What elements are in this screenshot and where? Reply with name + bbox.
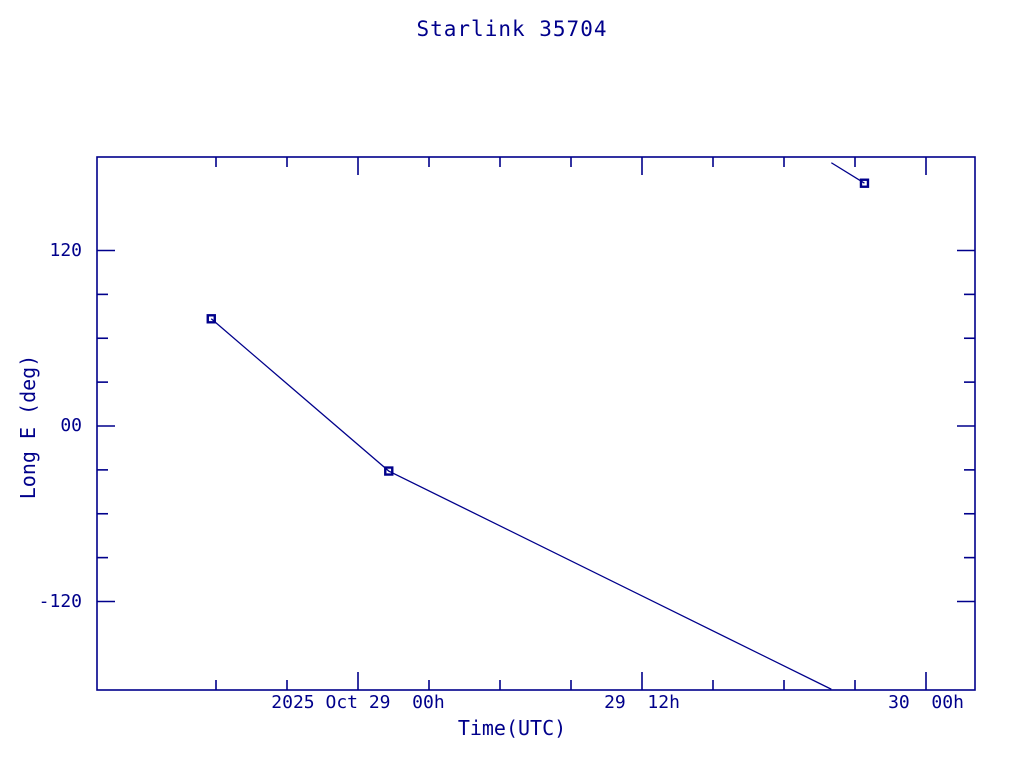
x-tick-label: 30 00h	[766, 692, 1024, 713]
data-series-lines	[211, 163, 864, 690]
x-tick-label: 29 12h	[482, 692, 802, 713]
data-series-markers	[208, 180, 868, 475]
y-axis-ticks	[97, 251, 975, 602]
series-line	[831, 163, 864, 183]
y-tick-label: 120	[0, 240, 82, 261]
y-axis-title: Long E (deg)	[16, 307, 40, 547]
x-tick-label: 2025 Oct 29 00h	[198, 692, 518, 713]
chart-container: Starlink 35704 12000-120 2025 Oct 29 00h…	[0, 0, 1024, 768]
x-axis-title: Time(UTC)	[0, 716, 1024, 740]
y-tick-label: 00	[0, 415, 82, 436]
plot-frame	[97, 157, 975, 690]
x-axis-ticks	[216, 157, 926, 690]
plot-area-svg	[0, 0, 1024, 768]
series-line	[211, 319, 831, 689]
y-tick-label: -120	[0, 591, 82, 612]
